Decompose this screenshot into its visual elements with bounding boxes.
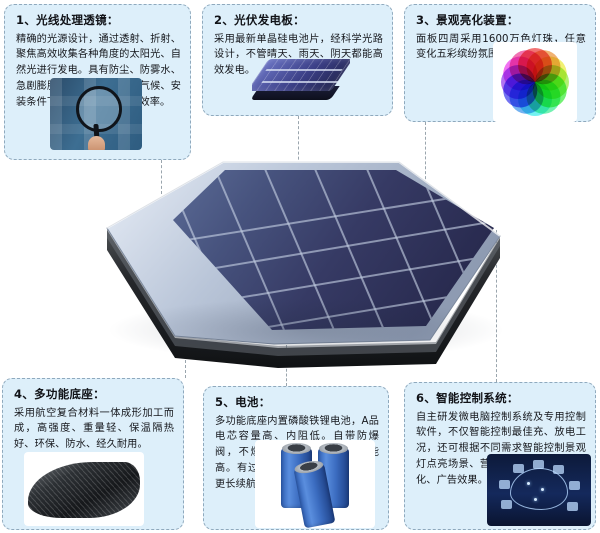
solar-panel-illustration — [96, 158, 516, 383]
network-icon — [569, 481, 580, 490]
info-box-4-body: 采用航空复合材料一体成形加工而成，高强度、重量轻、保温隔热好、环保、防水、经久耐… — [14, 406, 174, 453]
network-node — [527, 482, 530, 485]
info-box-5-title: 5、电池： — [215, 395, 379, 411]
network-node — [534, 498, 537, 501]
carbon-shell-icon — [24, 452, 144, 526]
busbar-line — [265, 69, 342, 71]
network-node — [541, 488, 544, 491]
color-wheel-graphic — [500, 47, 570, 117]
network-icon — [567, 502, 578, 511]
magnifier-icon — [50, 78, 142, 150]
solar-cell-icon — [252, 55, 350, 111]
battery-cells-icon — [255, 440, 375, 528]
busbar-line — [261, 81, 338, 83]
network-icon — [513, 464, 524, 473]
info-box-4-title: 4、多功能底座： — [14, 387, 174, 403]
carbon-fibre-shell — [28, 462, 140, 518]
network-icon — [501, 500, 512, 509]
network-icon — [553, 465, 564, 474]
finger-shape — [88, 136, 105, 150]
color-wheel-icon — [493, 42, 577, 122]
network-icon — [533, 460, 544, 469]
info-box-1-title: 1、光线处理透镜： — [16, 13, 181, 29]
magnifier-lens — [76, 86, 122, 132]
ai-brain-icon — [487, 454, 591, 526]
info-box-3-title: 3、景观亮化装置： — [416, 13, 586, 29]
info-box-6-title: 6、智能控制系统： — [416, 391, 586, 407]
network-icon — [499, 480, 510, 489]
panel-shadow — [106, 298, 506, 362]
info-box-2-title: 2、光伏发电板： — [214, 13, 383, 29]
